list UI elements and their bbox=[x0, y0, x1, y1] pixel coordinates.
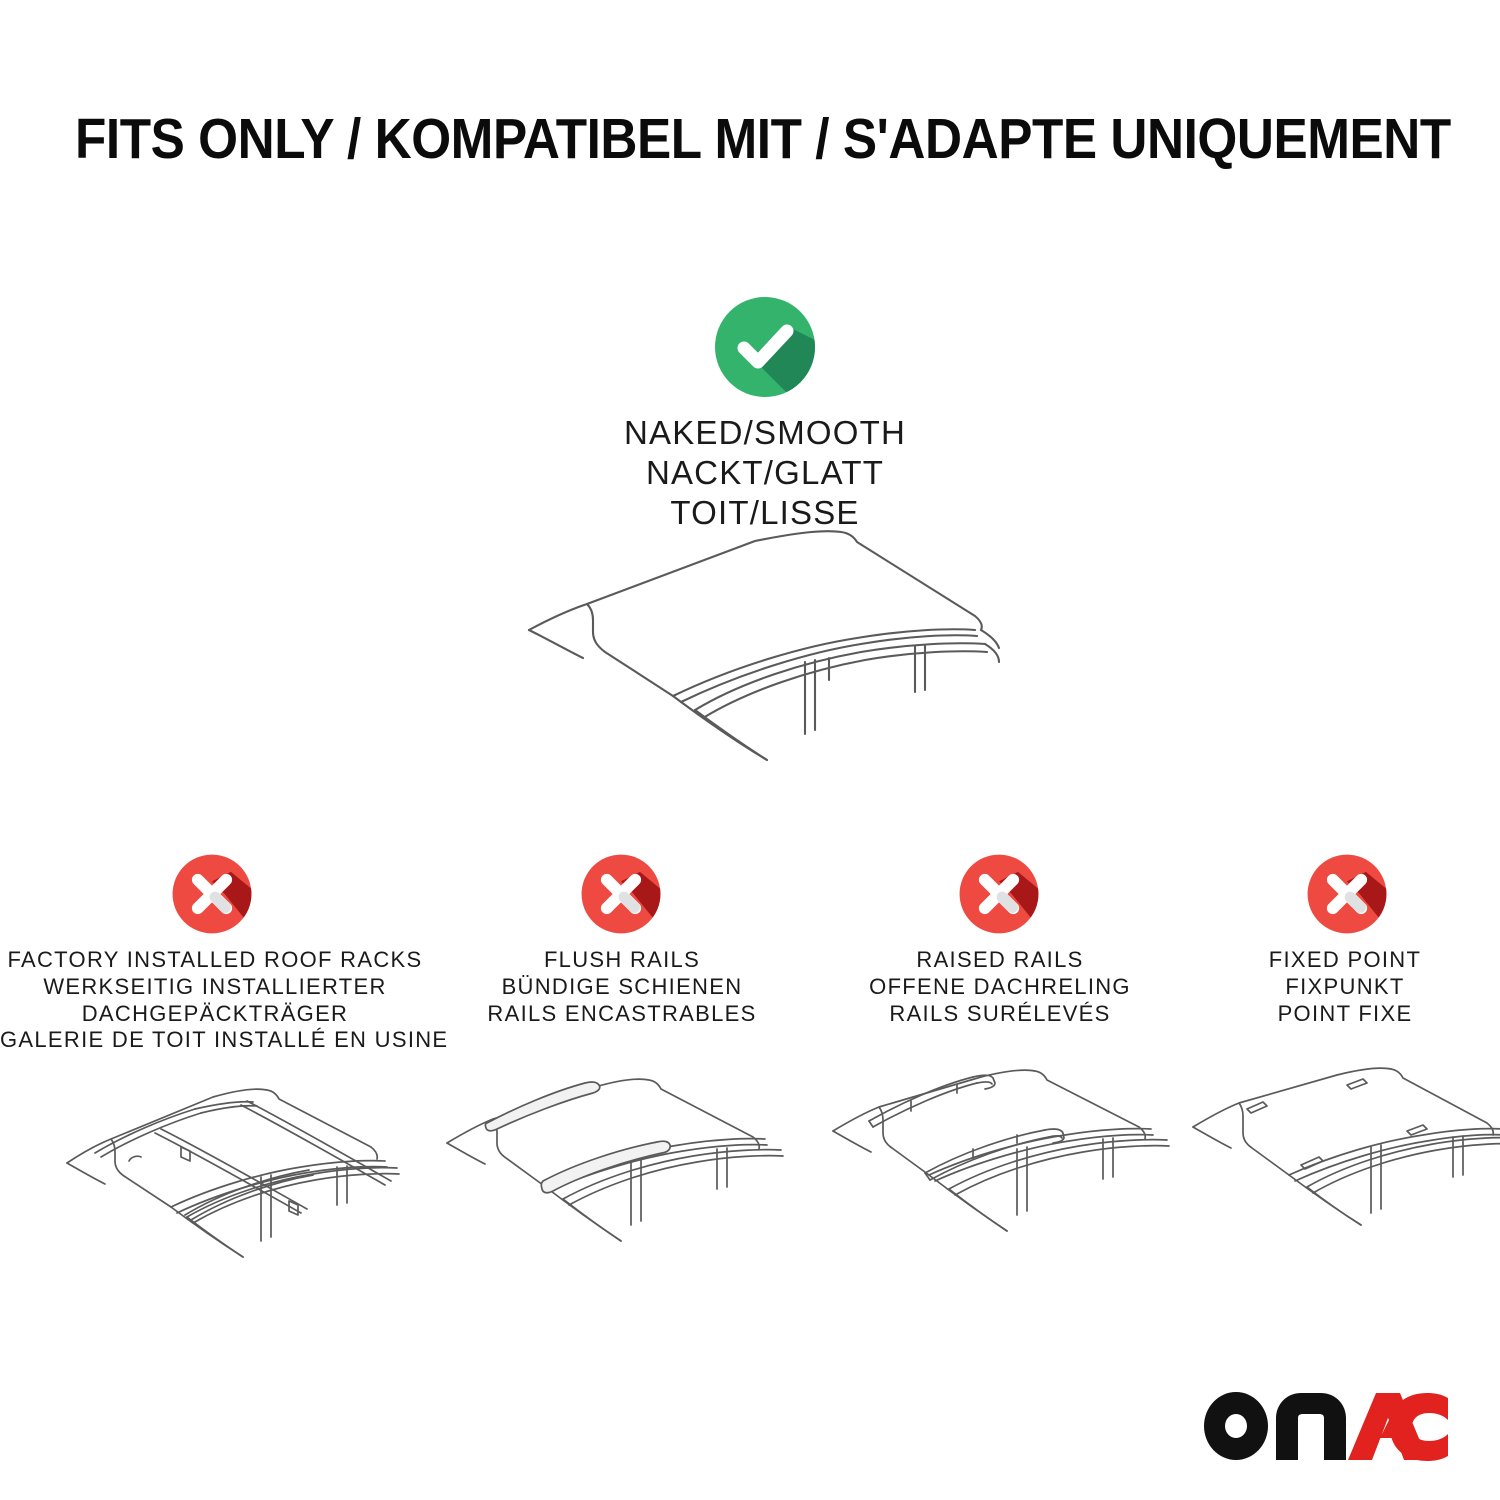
cross-circle-icon bbox=[580, 853, 662, 935]
page-title: FITS ONLY / KOMPATIBEL MIT / S'ADAPTE UN… bbox=[75, 106, 1425, 172]
compatible-label-line-1: NAKED/SMOOTH bbox=[465, 413, 1065, 453]
label-line-1: FLUSH RAILS bbox=[432, 947, 812, 974]
car-roof-naked-smooth-illustration bbox=[505, 520, 1025, 810]
label-line-2: FIXPUNKT bbox=[1190, 974, 1500, 1001]
label-line-2: WERKSEITIG INSTALLIERTER bbox=[0, 974, 430, 1001]
incompatible-cell-raised-rails: RAISED RAILS OFFENE DACHRELING RAILS SUR… bbox=[810, 853, 1190, 1027]
label-line-3: RAILS SURÉLEVÉS bbox=[810, 1001, 1190, 1028]
compatible-label: NAKED/SMOOTH NACKT/GLATT TOIT/LISSE bbox=[465, 413, 1065, 533]
incompatible-label-raised-rails: RAISED RAILS OFFENE DACHRELING RAILS SUR… bbox=[810, 947, 1190, 1027]
label-line-1: FIXED POINT bbox=[1190, 947, 1500, 974]
car-roof-factory-roof-racks-illustration bbox=[45, 1065, 435, 1280]
incompatible-cell-fixed-point: FIXED POINT FIXPUNKT POINT FIXE bbox=[1190, 853, 1500, 1027]
label-line-4: GALERIE DE TOIT INSTALLÉ EN USINE bbox=[0, 1027, 430, 1054]
label-line-3: DACHGEPÄCKTRÄGER bbox=[0, 1001, 430, 1028]
car-roof-fixed-point-illustration bbox=[1185, 1065, 1500, 1280]
incompatible-cell-factory-roof-racks: FACTORY INSTALLED ROOF RACKS WERKSEITIG … bbox=[0, 853, 430, 1054]
cross-circle-icon bbox=[171, 853, 253, 935]
omac-logo bbox=[1200, 1388, 1448, 1462]
label-line-3: POINT FIXE bbox=[1190, 1001, 1500, 1028]
fitment-infographic: FITS ONLY / KOMPATIBEL MIT / S'ADAPTE UN… bbox=[0, 0, 1500, 1500]
label-line-1: RAISED RAILS bbox=[810, 947, 1190, 974]
incompatible-label-factory-roof-racks: FACTORY INSTALLED ROOF RACKS WERKSEITIG … bbox=[0, 947, 430, 1054]
compatible-cell: NAKED/SMOOTH NACKT/GLATT TOIT/LISSE bbox=[465, 295, 1065, 533]
label-line-3: RAILS ENCASTRABLES bbox=[432, 1001, 812, 1028]
car-roof-raised-rails-illustration bbox=[825, 1065, 1215, 1280]
car-roof-flush-rails-illustration bbox=[435, 1065, 825, 1280]
incompatible-label-fixed-point: FIXED POINT FIXPUNKT POINT FIXE bbox=[1190, 947, 1500, 1027]
incompatible-label-flush-rails: FLUSH RAILS BÜNDIGE SCHIENEN RAILS ENCAS… bbox=[432, 947, 812, 1027]
cross-circle-icon bbox=[1306, 853, 1388, 935]
label-line-2: BÜNDIGE SCHIENEN bbox=[432, 974, 812, 1001]
cross-circle-icon bbox=[958, 853, 1040, 935]
label-line-2: OFFENE DACHRELING bbox=[810, 974, 1190, 1001]
compatible-label-line-2: NACKT/GLATT bbox=[465, 453, 1065, 493]
incompatible-cell-flush-rails: FLUSH RAILS BÜNDIGE SCHIENEN RAILS ENCAS… bbox=[432, 853, 812, 1027]
label-line-1: FACTORY INSTALLED ROOF RACKS bbox=[0, 947, 430, 974]
check-circle-icon bbox=[713, 295, 817, 399]
